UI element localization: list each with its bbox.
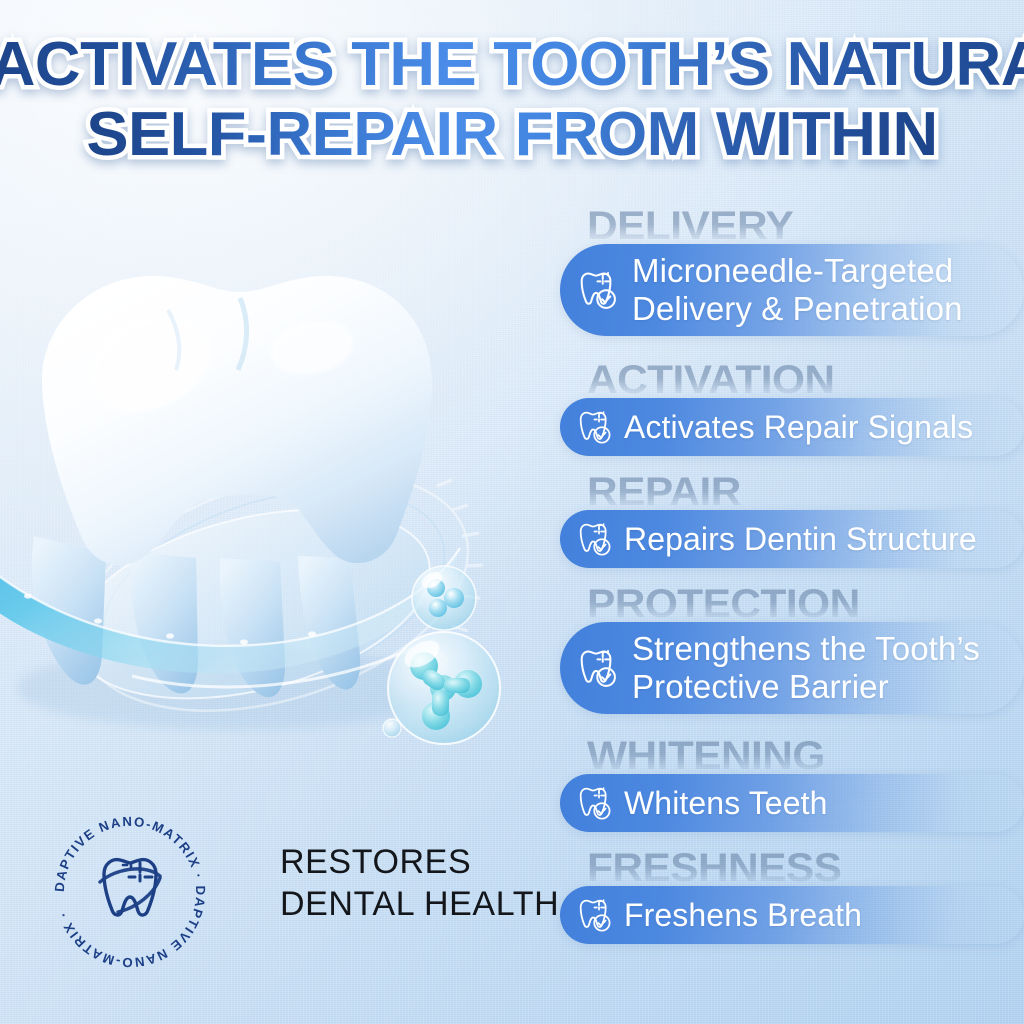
seal-ring-text: DAPTIVE NANO-MATRIX · DAPTIVE NANO-MATRI… xyxy=(52,814,208,970)
feature-category-label: PROTECTION xyxy=(587,584,860,624)
feature-list: DELIVERY Microneedle-Targeted Delivery &… xyxy=(560,206,1024,966)
tooth-check-icon xyxy=(574,895,614,935)
tooth-check-icon xyxy=(574,267,620,313)
droplet xyxy=(383,719,401,737)
feature-category-label: FRESHNESS xyxy=(587,848,841,888)
brand-block: DAPTIVE NANO-MATRIX · DAPTIVE NANO-MATRI… xyxy=(44,806,564,981)
feature-pill[interactable]: Repairs Dentin Structure xyxy=(560,510,1024,568)
feature-pill[interactable]: Strengthens the Tooth’s Protective Barri… xyxy=(560,622,1024,714)
feature-category-label: ACTIVATION xyxy=(587,360,835,400)
feature-label: Repairs Dentin Structure xyxy=(624,521,977,557)
feature-label: Microneedle-Targeted Delivery & Penetrat… xyxy=(632,252,963,328)
molecule-bubble-large xyxy=(388,632,500,744)
page-title: ACTIVATES THE TOOTH’S NATURAL ACTIVATES … xyxy=(0,34,1024,166)
tooth-check-icon xyxy=(574,407,614,447)
feature-pill[interactable]: Microneedle-Targeted Delivery & Penetrat… xyxy=(560,244,1024,336)
tooth-check-icon xyxy=(574,645,620,691)
feature-pill[interactable]: Whitens Teeth xyxy=(560,774,1024,832)
feature-pill[interactable]: Freshens Breath xyxy=(560,886,1024,944)
tooth-check-icon xyxy=(574,519,614,559)
feature-category-label: WHITENING xyxy=(587,736,825,776)
molecule-bubble-small xyxy=(412,566,476,630)
restores-tagline: RESTORES DENTAL HEALTH xyxy=(280,841,559,925)
headline-line-2-text: SELF-REPAIR FROM WITHIN xyxy=(86,100,937,169)
headline-line-1: ACTIVATES THE TOOTH’S NATURAL ACTIVATES … xyxy=(0,34,1024,96)
tooth-check-icon xyxy=(574,783,614,823)
feature-label: Whitens Teeth xyxy=(624,785,828,821)
brand-seal: DAPTIVE NANO-MATRIX · DAPTIVE NANO-MATRI… xyxy=(44,806,216,978)
feature-category-label: DELIVERY xyxy=(587,206,793,246)
poster-canvas: ACTIVATES THE TOOTH’S NATURAL ACTIVATES … xyxy=(0,0,1024,1024)
feature-label: Strengthens the Tooth’s Protective Barri… xyxy=(632,630,980,706)
headline-line-1-text: ACTIVATES THE TOOTH’S NATURAL xyxy=(0,30,1024,99)
tooth-illustration xyxy=(0,236,512,756)
headline-line-2: SELF-REPAIR FROM WITHIN SELF-REPAIR FROM… xyxy=(0,104,1024,166)
feature-pill[interactable]: Activates Repair Signals xyxy=(560,398,1024,456)
feature-category-label: REPAIR xyxy=(587,472,741,512)
feature-label: Activates Repair Signals xyxy=(624,409,973,445)
feature-label: Freshens Breath xyxy=(624,897,862,933)
seal-tooth-icon xyxy=(100,860,160,915)
